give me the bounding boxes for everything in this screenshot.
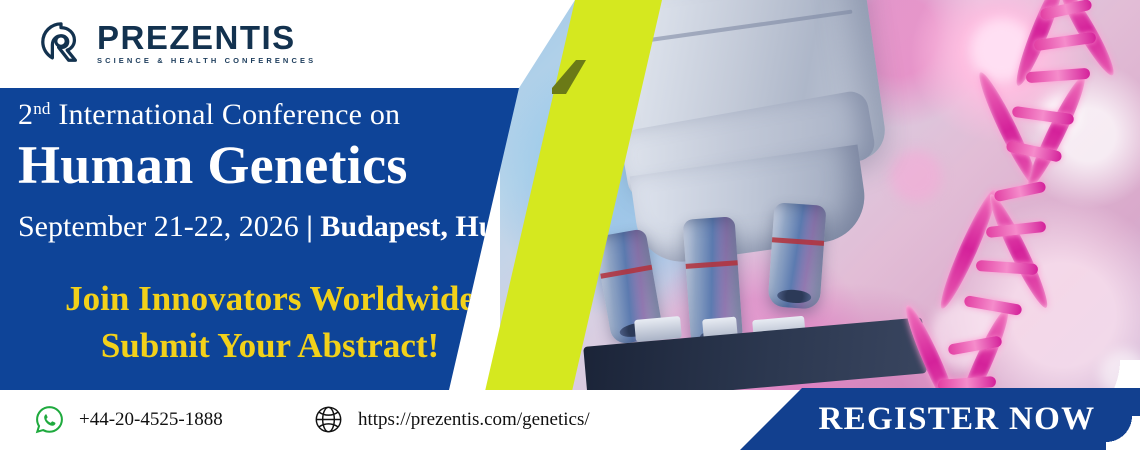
register-now-label: REGISTER NOW <box>785 401 1096 438</box>
register-rounded-corner <box>1106 416 1140 450</box>
microscope-objective-lens <box>767 202 826 309</box>
brand-logo[interactable]: PREZENTIS SCIENCE & HEALTH CONFERENCES <box>38 20 316 66</box>
globe-icon <box>313 404 344 435</box>
prezentis-circle-r-logo-icon <box>38 20 84 66</box>
edition-number: 2 <box>18 98 33 131</box>
cta-line-1: Join Innovators Worldwide <box>0 276 540 323</box>
brand-name: PREZENTIS <box>97 21 316 54</box>
page-title: Human Genetics <box>18 134 408 196</box>
edition-suffix: nd <box>33 99 50 118</box>
dna-strand <box>1022 73 1092 192</box>
cta-line-2: Submit Your Abstract! <box>0 323 540 370</box>
event-edition-line: 2nd International Conference on <box>18 98 400 132</box>
contact-phone[interactable]: +44-20-4525-1888 <box>34 404 223 435</box>
phone-number: +44-20-4525-1888 <box>79 409 223 431</box>
event-date-location: September 21-22, 2026 | Budapest, Hungar… <box>18 210 570 244</box>
date-location-separator: | <box>306 210 313 243</box>
whatsapp-icon <box>34 404 65 435</box>
header-strip: PREZENTIS SCIENCE & HEALTH CONFERENCES <box>0 0 575 88</box>
contact-website[interactable]: https://prezentis.com/genetics/ <box>313 404 590 435</box>
footer-bar: +44-20-4525-1888 https://prezentis.com/g… <box>0 390 1140 450</box>
edition-rest: International Conference on <box>58 98 400 131</box>
dna-strand <box>983 191 1054 312</box>
call-to-action: Join Innovators Worldwide Submit Your Ab… <box>0 276 540 369</box>
conference-banner: PREZENTIS SCIENCE & HEALTH CONFERENCES 2… <box>0 0 1140 450</box>
website-url: https://prezentis.com/genetics/ <box>358 409 590 431</box>
dna-base-pair <box>963 295 1022 316</box>
brand-tagline: SCIENCE & HEALTH CONFERENCES <box>97 57 316 65</box>
event-date: September 21-22, 2026 <box>18 210 299 243</box>
dna-base-pair <box>993 181 1046 203</box>
register-now-button[interactable]: REGISTER NOW <box>740 388 1140 450</box>
